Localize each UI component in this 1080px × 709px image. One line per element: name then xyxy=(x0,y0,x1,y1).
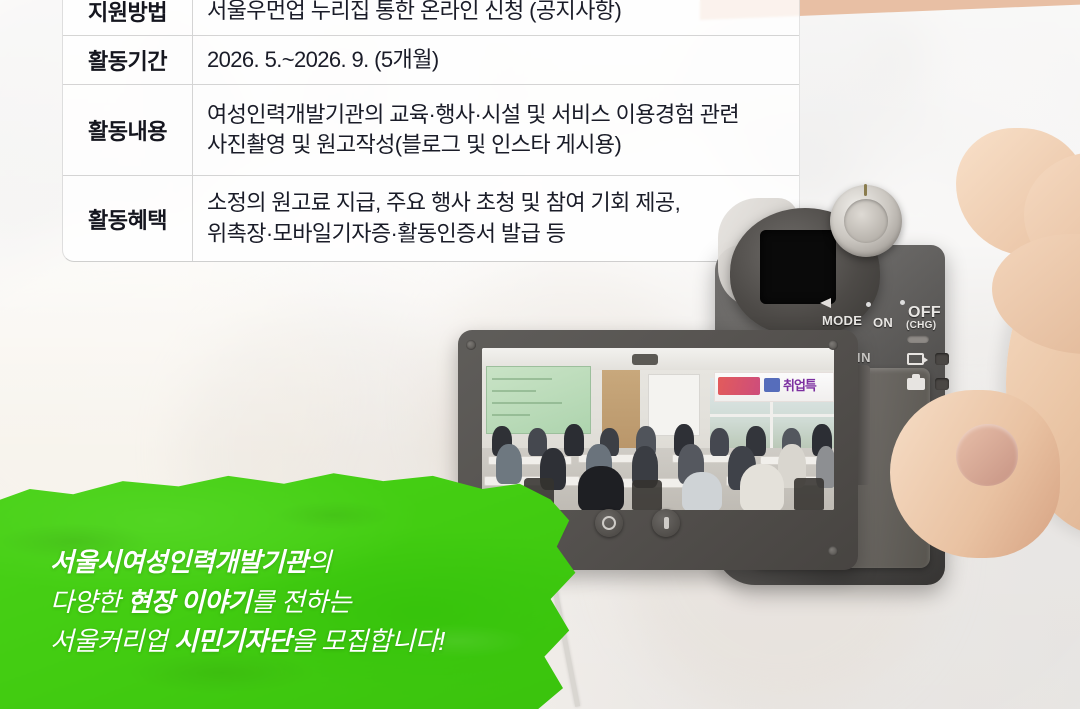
banner-line3-rest: 을 모집합니다! xyxy=(291,626,445,656)
scene-person-foreground xyxy=(740,464,784,510)
scene-slide-line xyxy=(492,390,536,392)
scene-banner-logo xyxy=(718,377,760,395)
menu-button[interactable] xyxy=(652,509,680,537)
video-mode-icon xyxy=(907,353,924,365)
scene-chair xyxy=(794,478,824,510)
table-row-label: 활동내용 xyxy=(63,85,193,175)
scene-slide-line xyxy=(492,402,562,404)
banner-line2-rest: 를 전하는 xyxy=(251,587,351,617)
scene-projector xyxy=(632,354,658,365)
thumbnail xyxy=(956,424,1018,486)
scene-whiteboard xyxy=(648,374,700,436)
ring-finger xyxy=(992,234,1080,354)
power-switch-arrow-icon xyxy=(820,298,831,308)
on-label: ON xyxy=(873,315,893,330)
playback-button[interactable] xyxy=(595,509,623,537)
power-indicator-dot xyxy=(866,302,871,307)
table-cell-line: 2026. 5.~2026. 9. (5개월) xyxy=(207,45,799,75)
table-row-label: 활동기간 xyxy=(63,36,193,84)
banner-line2-pre: 다양한 xyxy=(50,587,127,617)
scene-banner-text: 취업특 xyxy=(783,375,816,394)
lcd-screw xyxy=(828,546,838,556)
scene-person xyxy=(496,444,522,484)
poster-canvas: 지원방법 서울우먼업 누리집 통한 온라인 신청 (공지사항) 활동기간 202… xyxy=(0,0,1080,709)
lcd-screen: 취업특 xyxy=(482,348,834,510)
table-row: 활동기간 2026. 5.~2026. 9. (5개월) xyxy=(63,35,799,84)
scene-person-foreground xyxy=(578,466,624,510)
banner-line3-pre: 서울커리업 xyxy=(50,626,174,656)
table-row-value: 2026. 5.~2026. 9. (5개월) xyxy=(193,36,799,84)
lcd-screw xyxy=(828,340,838,350)
table-row-label: 지원방법 xyxy=(63,0,193,35)
banner-line1-bold: 서울시여성인력개발기관 xyxy=(50,547,308,577)
hand-holding-camcorder xyxy=(928,138,1080,598)
scene-slide-line xyxy=(492,414,530,416)
scene-person xyxy=(564,424,584,456)
scene-person xyxy=(710,428,729,456)
photo-mode-icon xyxy=(907,378,925,390)
table-cell-line: 서울우먼업 누리집 통한 온라인 신청 (공지사항) xyxy=(207,0,799,26)
banner-headline-line3: 서울커리업 시민기자단을 모집합니다! xyxy=(50,622,570,662)
banner-line1-rest: 의 xyxy=(308,547,331,577)
table-row: 지원방법 서울우먼업 누리집 통한 온라인 신청 (공지사항) xyxy=(63,0,799,35)
banner-headline-line1: 서울시여성인력개발기관의 xyxy=(50,543,570,583)
banner-headline: 서울시여성인력개발기관의 다양한 현장 이야기를 전하는 서울커리업 시민기자단… xyxy=(50,543,570,662)
table-row-label: 활동혜택 xyxy=(63,176,193,261)
scene-slide-line xyxy=(492,378,552,380)
scene-banner-mark xyxy=(764,378,780,392)
charge-indicator-dot xyxy=(900,300,905,305)
scene-window-frame xyxy=(710,414,834,417)
banner-line2-bold: 현장 이야기 xyxy=(127,587,251,617)
table-row-value: 서울우먼업 누리집 통한 온라인 신청 (공지사항) xyxy=(193,0,799,35)
banner-headline-line2: 다양한 현장 이야기를 전하는 xyxy=(50,583,570,623)
table-cell-line: 여성인력개발기관의 교육·행사·시설 및 서비스 이용경험 관련 xyxy=(207,100,799,130)
menu-icon xyxy=(664,517,669,529)
mode-slider-switch[interactable] xyxy=(907,335,929,343)
scene-person-foreground xyxy=(682,472,722,510)
lcd-screw xyxy=(466,340,476,350)
scene-chair xyxy=(632,480,662,510)
playback-icon xyxy=(602,516,616,530)
mode-label: MODE xyxy=(822,313,862,328)
banner-line3-bold: 시민기자단 xyxy=(174,626,291,656)
